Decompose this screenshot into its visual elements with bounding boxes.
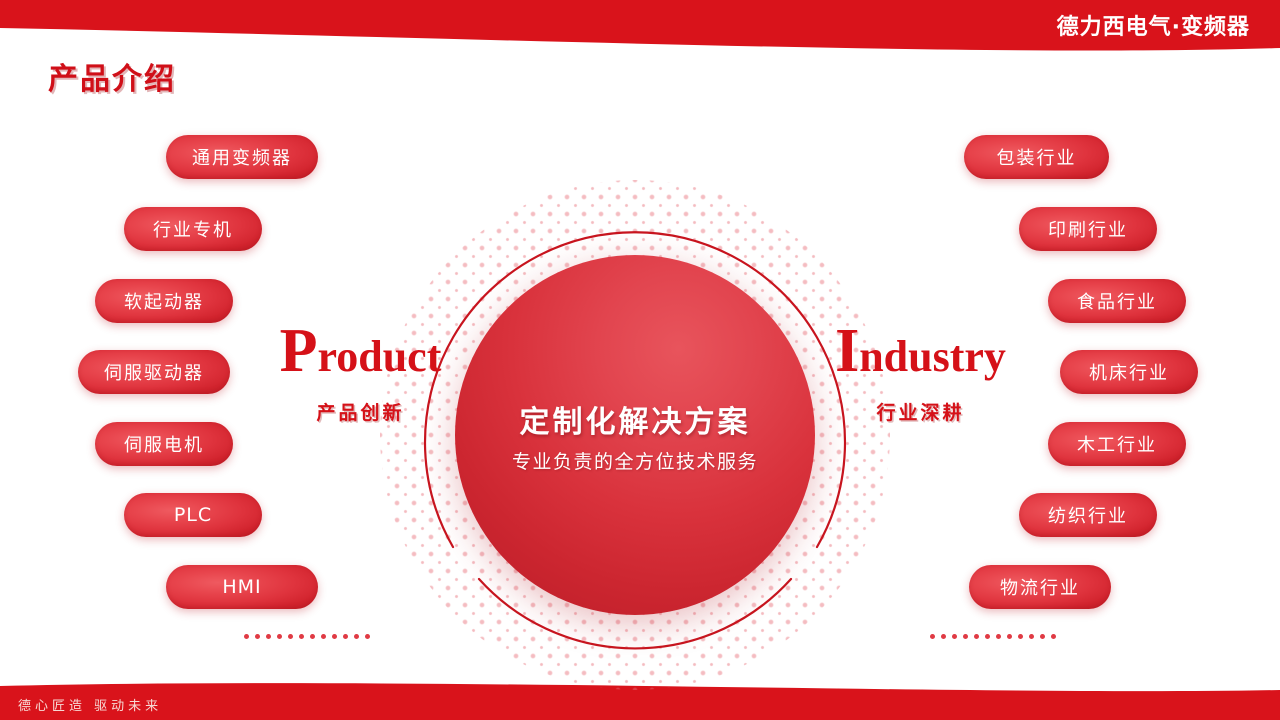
product-pill-label: 伺服电机 [124,431,204,457]
right-heading-cn: 行业深耕 [818,398,1023,425]
left-dotted-tail [244,634,370,639]
product-pill-4[interactable]: 伺服驱动器 [78,350,230,394]
left-heading-en: Product [258,320,463,382]
left-tail-dot [332,634,337,639]
left-tail-dot [266,634,271,639]
product-pill-label: 伺服驱动器 [104,359,204,385]
product-pill-label: HMI [222,576,261,598]
left-tail-dot [277,634,282,639]
product-pill-label: PLC [174,504,212,526]
industry-pill-6[interactable]: 纺织行业 [1019,493,1157,537]
right-dotted-tail [930,634,1056,639]
product-pill-7[interactable]: HMI [166,565,318,609]
product-pill-3[interactable]: 软起动器 [95,279,233,323]
product-pill-label: 行业专机 [153,216,233,242]
industry-pill-label: 纺织行业 [1048,502,1128,528]
left-heading-cn: 产品创新 [258,398,463,425]
right-tail-dot [1007,634,1012,639]
product-pill-5[interactable]: 伺服电机 [95,422,233,466]
left-tail-dot [244,634,249,639]
right-tail-dot [985,634,990,639]
page-title: 产品介绍 [48,54,176,98]
product-pill-2[interactable]: 行业专机 [124,207,262,251]
right-section-heading: Industry 行业深耕 [818,320,1023,425]
right-tail-dot [1018,634,1023,639]
industry-pill-label: 木工行业 [1077,431,1157,457]
industry-pill-4[interactable]: 机床行业 [1060,350,1198,394]
right-tail-dot [1051,634,1056,639]
right-heading-en: Industry [818,320,1023,382]
slide-root: 德力西电气·变频器 德心匠造 驱动未来 产品介绍 [0,0,1280,720]
right-tail-dot [963,634,968,639]
right-tail-dot [1029,634,1034,639]
right-tail-dot [952,634,957,639]
brand-logo-text: 德力西电气·变频器 [1057,9,1250,41]
footer-slogan: 德心匠造 驱动未来 [18,695,162,714]
left-section-heading: Product 产品创新 [258,320,463,425]
product-pill-label: 通用变频器 [192,144,292,170]
center-subtitle: 专业负责的全方位技术服务 [512,447,758,474]
industry-pill-label: 食品行业 [1077,288,1157,314]
industry-pill-5[interactable]: 木工行业 [1048,422,1186,466]
center-title: 定制化解决方案 [520,397,751,441]
right-tail-dot [930,634,935,639]
left-tail-dot [299,634,304,639]
right-tail-dot [1040,634,1045,639]
right-tail-dot [996,634,1001,639]
right-heading-capital: I [835,317,859,385]
left-tail-dot [343,634,348,639]
right-tail-dot [974,634,979,639]
center-sphere: 定制化解决方案 专业负责的全方位技术服务 [455,255,815,615]
left-tail-dot [321,634,326,639]
industry-pill-3[interactable]: 食品行业 [1048,279,1186,323]
right-tail-dot [941,634,946,639]
industry-pill-label: 印刷行业 [1048,216,1128,242]
industry-pill-label: 包装行业 [997,144,1077,170]
left-tail-dot [365,634,370,639]
industry-pill-7[interactable]: 物流行业 [969,565,1111,609]
industry-pill-label: 物流行业 [1000,574,1080,600]
product-pill-1[interactable]: 通用变频器 [166,135,318,179]
industry-pill-1[interactable]: 包装行业 [964,135,1109,179]
left-tail-dot [255,634,260,639]
right-heading-rest: ndustry [859,332,1006,381]
industry-pill-label: 机床行业 [1089,359,1169,385]
left-tail-dot [310,634,315,639]
left-tail-dot [288,634,293,639]
product-pill-label: 软起动器 [124,288,204,314]
industry-pill-2[interactable]: 印刷行业 [1019,207,1157,251]
left-heading-capital: P [280,317,318,385]
left-heading-rest: roduct [318,332,442,381]
product-pill-6[interactable]: PLC [124,493,262,537]
left-tail-dot [354,634,359,639]
